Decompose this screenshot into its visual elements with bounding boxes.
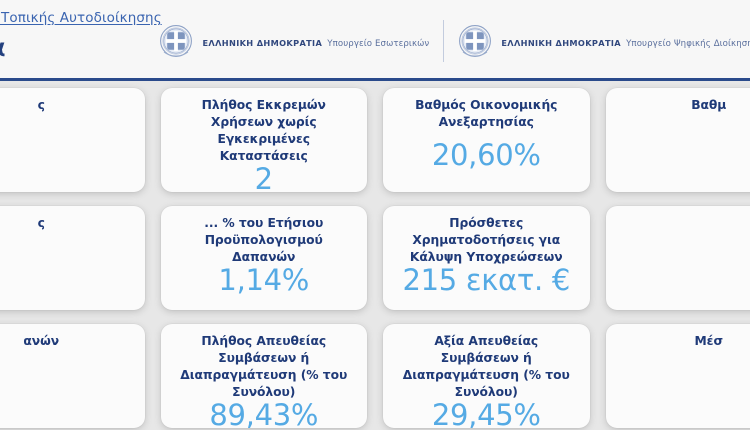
kpi-title: Αξία Απευθείας Συμβάσεων ή Διαπραγμάτευσ… <box>395 333 578 401</box>
kpi-title: Πρόσθετες Χρηματοδοτήσεις για Κάλυψη Υπο… <box>395 215 578 266</box>
kpi-title: Βαθμ <box>618 97 750 114</box>
kpi-card-grid: ς Πλήθος Εκκρεμών Χρήσεων χωρίς Εγκεκριμ… <box>0 88 750 428</box>
kpi-title: Μέσ <box>618 333 750 350</box>
kpi-card[interactable]: Μέσ <box>606 324 750 428</box>
kpi-card[interactable]: Βαθμός Οικονομικής Ανεξαρτησίας 20,60% <box>383 88 590 192</box>
greek-coat-of-arms-icon <box>159 24 193 58</box>
logo-ministry-label: Υπουργείο Εσωτερικών <box>327 39 429 49</box>
kpi-card[interactable]: Αξία Απευθείας Συμβάσεων ή Διαπραγμάτευσ… <box>383 324 590 428</box>
kpi-value: 2 <box>255 165 273 192</box>
logo-ministry-label: Υπουργείο Ψηφικής Διοίκησης <box>626 39 750 49</box>
kpi-card[interactable]: Πλήθος Απευθείας Συμβάσεων ή Διαπραγμάτε… <box>161 324 368 428</box>
page-header: τεων Τοπικής Αυτοδιοίκησης νία ΕΛΛΗΝΙΚΗ … <box>0 0 750 81</box>
kpi-card[interactable]: Πλήθος Εκκρεμών Χρήσεων χωρίς Εγκεκριμέν… <box>161 88 368 192</box>
kpi-card[interactable]: ς <box>0 88 145 192</box>
logo-republic-label: ΕΛΛΗΝΙΚΗ ΔΗΜΟΚΡΑΤΙΑ <box>202 38 322 48</box>
logo-text-block: ΕΛΛΗΝΙΚΗ ΔΗΜΟΚΡΑΤΙΑ Υπουργείο Εσωτερικών <box>202 31 429 51</box>
kpi-value: 20,60% <box>432 141 541 170</box>
kpi-card[interactable]: Βαθμ <box>606 88 750 192</box>
kpi-title: ς <box>0 97 133 114</box>
kpi-title: ... % του Ετήσιου Προϋπολογισμού Δαπανών <box>173 215 356 266</box>
kpi-value: 89,43% <box>209 401 318 428</box>
logo-ministry-digital: ΕΛΛΗΝΙΚΗ ΔΗΜΟΚΡΑΤΙΑ Υπουργείο Ψηφικής Δι… <box>443 20 750 62</box>
kpi-title: ανών <box>0 333 133 350</box>
kpi-card[interactable] <box>606 206 750 310</box>
kpi-title: Βαθμός Οικονομικής Ανεξαρτησίας <box>395 97 578 131</box>
kpi-value: 215 εκατ. € <box>403 266 571 295</box>
kpi-card[interactable]: ς <box>0 206 145 310</box>
kpi-value: 29,45% <box>432 401 541 428</box>
logo-ministry-interior: ΕΛΛΗΝΙΚΗ ΔΗΜΟΚΡΑΤΙΑ Υπουργείο Εσωτερικών <box>145 20 443 62</box>
ministry-logo-bar: ΕΛΛΗΝΙΚΗ ΔΗΜΟΚΡΑΤΙΑ Υπουργείο Εσωτερικών <box>145 20 750 62</box>
greek-coat-of-arms-icon <box>458 24 492 58</box>
kpi-card[interactable]: Πρόσθετες Χρηματοδοτήσεις για Κάλυψη Υπο… <box>383 206 590 310</box>
kpi-title: Πλήθος Απευθείας Συμβάσεων ή Διαπραγμάτε… <box>173 333 356 401</box>
kpi-card[interactable]: ... % του Ετήσιου Προϋπολογισμού Δαπανών… <box>161 206 368 310</box>
logo-republic-label: ΕΛΛΗΝΙΚΗ ΔΗΜΟΚΡΑΤΙΑ <box>501 38 621 48</box>
kpi-title: ς <box>0 215 133 232</box>
kpi-card[interactable]: ανών <box>0 324 145 428</box>
kpi-value: 1,14% <box>218 266 309 295</box>
kpi-title: Πλήθος Εκκρεμών Χρήσεων χωρίς Εγκεκριμέν… <box>173 97 356 165</box>
logo-text-block: ΕΛΛΗΝΙΚΗ ΔΗΜΟΚΡΑΤΙΑ Υπουργείο Ψηφικής Δι… <box>501 31 750 51</box>
